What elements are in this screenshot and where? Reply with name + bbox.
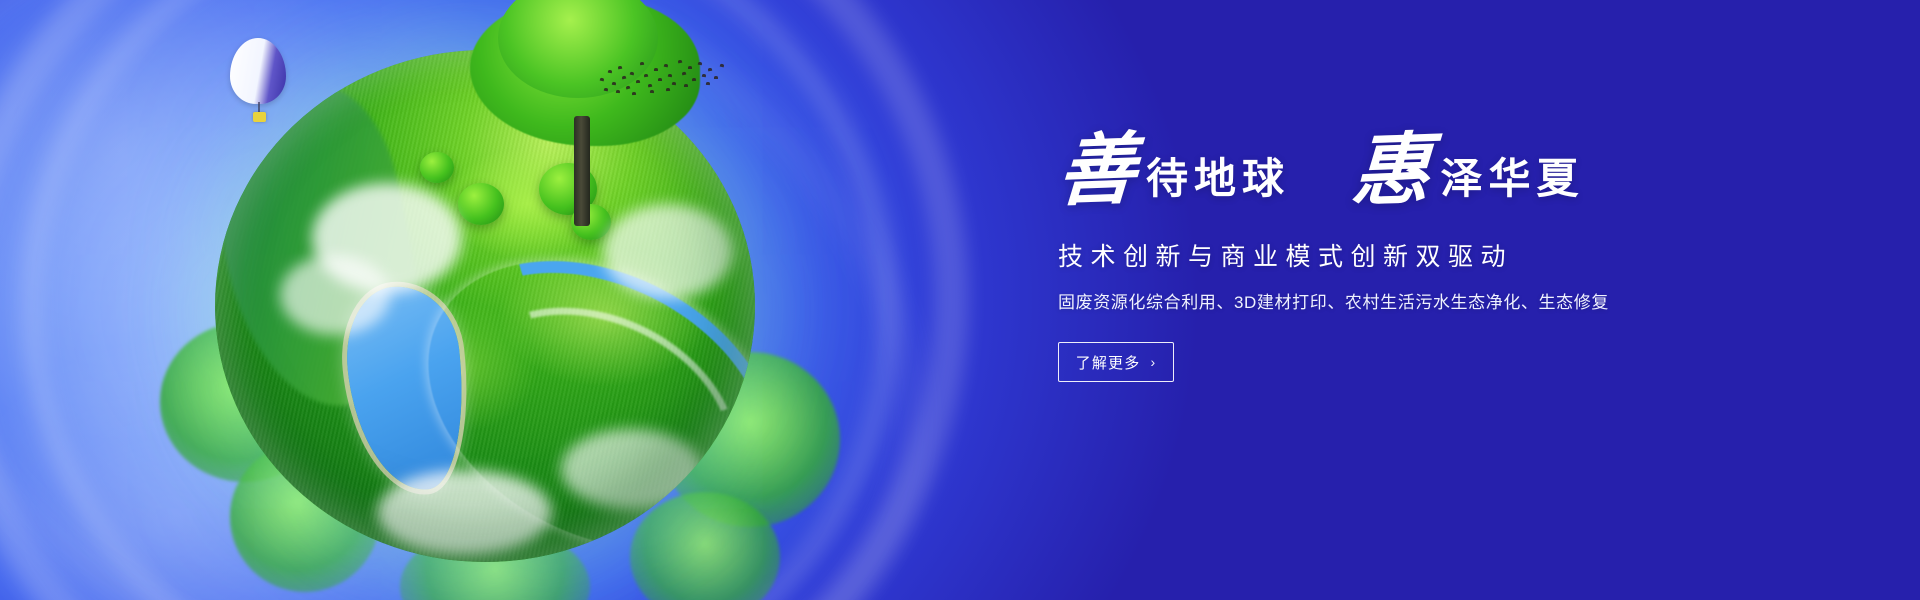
tree-trunk: [574, 116, 590, 226]
bird-icon: [672, 82, 676, 85]
bird-icon: [720, 64, 725, 68]
bird-icon: [622, 76, 627, 80]
cloud-icon: [561, 429, 701, 509]
headline-big-char-2: 惠: [1350, 131, 1432, 212]
hero-banner: 善待地球 惠泽华夏 技术创新与商业模式创新双驱动 固废资源化综合利用、3D建材打…: [0, 0, 1920, 600]
bird-icon: [706, 82, 710, 85]
river-highlight: [416, 263, 755, 562]
balloon-basket: [253, 112, 266, 122]
cloud-icon: [312, 183, 462, 293]
headline-small-text-2: 泽华夏: [1441, 159, 1585, 201]
learn-more-label: 了解更多: [1076, 352, 1141, 373]
chevron-right-icon: ›: [1150, 355, 1156, 369]
description: 固废资源化综合利用、3D建材打印、农村生活污水生态净化、生态修复: [1058, 290, 1758, 316]
bird-icon: [684, 84, 688, 87]
balloon-envelope: [230, 38, 286, 104]
bird-icon: [682, 72, 687, 76]
bird-icon: [650, 90, 654, 93]
learn-more-button[interactable]: 了解更多 ›: [1058, 342, 1174, 382]
bird-icon: [632, 92, 636, 95]
bird-icon: [698, 62, 702, 66]
bird-flock-icon: [596, 48, 726, 96]
headline-group-1: 善待地球: [1058, 132, 1290, 210]
subtitle: 技术创新与商业模式创新双驱动: [1058, 240, 1758, 274]
bird-icon: [658, 78, 662, 81]
hero-text-block: 善待地球 惠泽华夏 技术创新与商业模式创新双驱动 固废资源化综合利用、3D建材打…: [1058, 132, 1758, 382]
cloud-icon: [280, 255, 390, 335]
cloud-icon: [603, 204, 733, 299]
bird-icon: [626, 86, 631, 90]
bird-icon: [664, 64, 668, 68]
headline-big-char-1: 善: [1056, 131, 1138, 212]
bird-icon: [692, 78, 696, 81]
bird-icon: [636, 80, 640, 83]
bird-icon: [612, 82, 616, 85]
lake-icon: [340, 280, 474, 496]
bird-icon: [668, 74, 672, 78]
bird-icon: [600, 78, 605, 82]
bird-icon: [630, 72, 635, 76]
bird-icon: [644, 74, 648, 78]
bird-icon: [640, 62, 644, 65]
bird-icon: [648, 84, 652, 88]
bird-icon: [708, 68, 712, 72]
bird-icon: [604, 88, 608, 92]
bird-icon: [616, 90, 620, 93]
bird-icon: [618, 66, 622, 70]
bird-icon: [714, 76, 718, 79]
tree-canopy-icon: [420, 152, 454, 183]
headline: 善待地球 惠泽华夏: [1058, 132, 1758, 224]
bird-icon: [608, 70, 612, 74]
hot-air-balloon-icon: [230, 38, 286, 126]
bird-icon: [702, 74, 706, 77]
bird-icon: [688, 66, 692, 69]
bird-icon: [666, 88, 670, 91]
hillside: [215, 75, 440, 424]
headline-group-2: 惠泽华夏: [1352, 132, 1584, 210]
large-tree-icon: [470, 0, 700, 216]
bird-icon: [678, 60, 682, 64]
cloud-icon: [377, 470, 552, 555]
bird-icon: [654, 68, 658, 71]
headline-small-text-1: 待地球: [1146, 159, 1290, 201]
